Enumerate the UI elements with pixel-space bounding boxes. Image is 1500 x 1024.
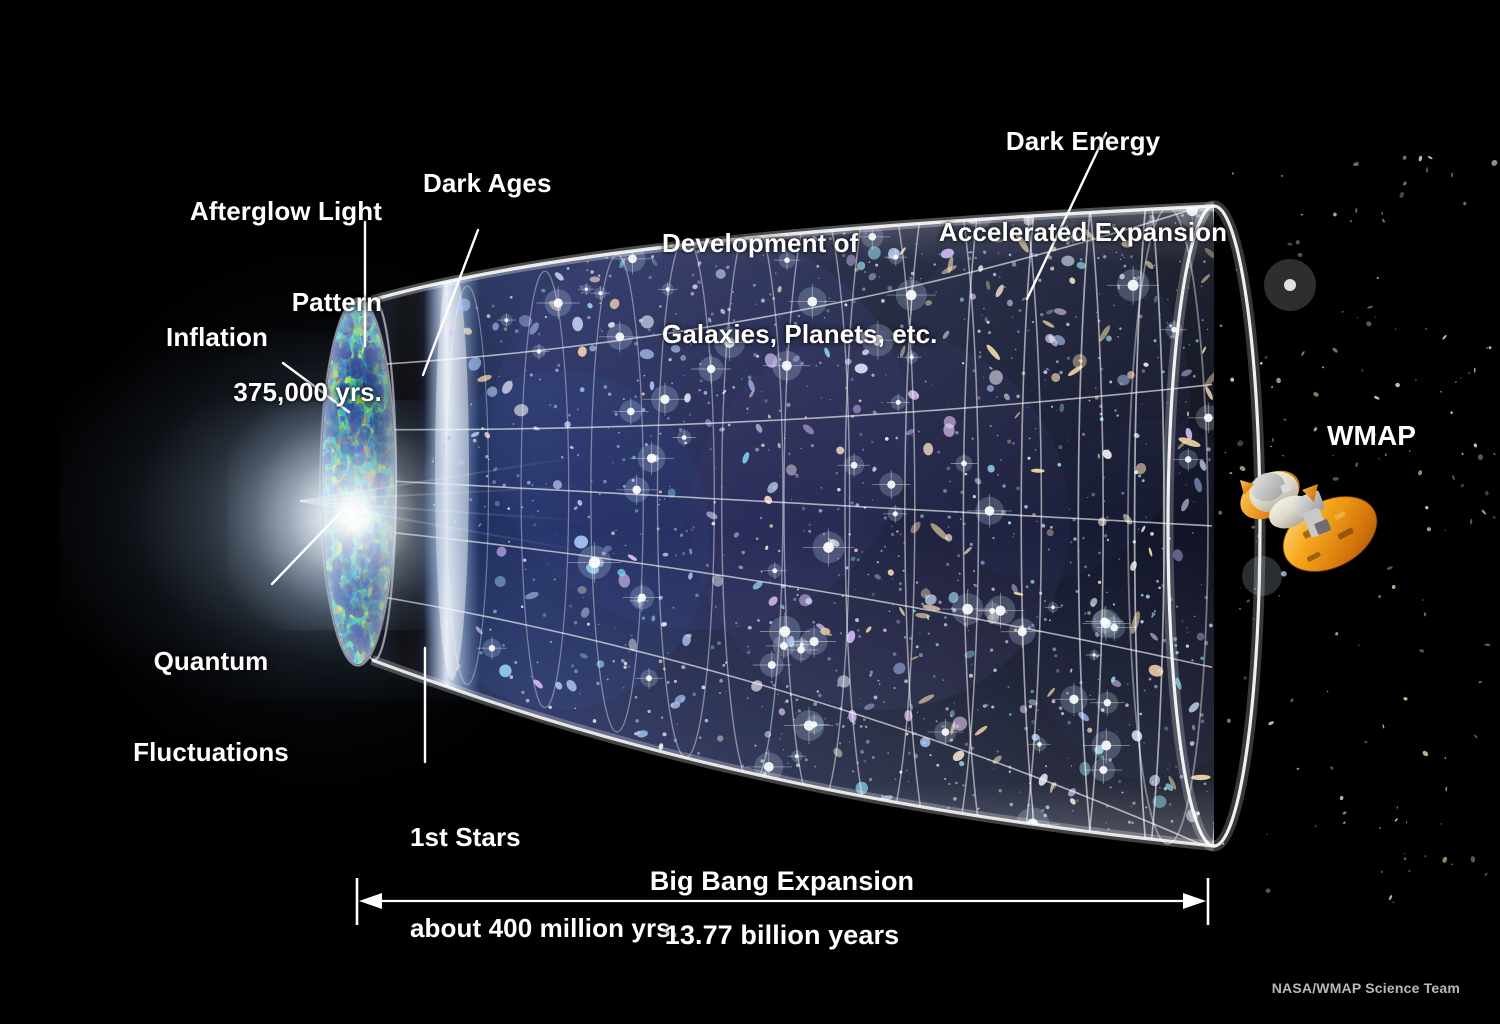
measure-bar (0, 0, 1500, 1024)
measure-value: 13.77 billion years (582, 920, 982, 951)
credit-line: NASA/WMAP Science Team (1272, 980, 1460, 996)
figure-canvas: Afterglow Light Pattern 375,000 yrs. Dar… (0, 0, 1500, 1024)
arrow-left-icon (359, 893, 382, 909)
arrow-right-icon (1183, 893, 1206, 909)
